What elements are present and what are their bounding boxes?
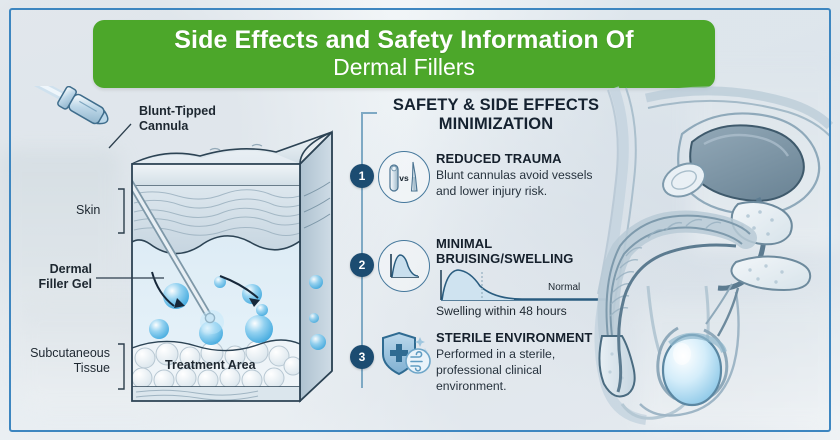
item-3-body-line2: professional clinical [436,363,542,377]
label-subq-line2: Tissue [74,361,110,375]
label-cannula-line1: Blunt-Tipped [139,104,216,118]
skin-bracket [118,189,124,233]
item-3-heading: STERILE ENVIRONMENT [436,331,592,346]
cannula-vs-needle-icon: vs [378,151,430,203]
title-line-1: Side Effects and Safety Information Of [174,27,633,54]
shield-cross-glyph [378,328,434,380]
filler-bubble [245,315,273,343]
section-title: SAFETY & SIDE EFFECTS MINIMIZATION [382,96,610,135]
step-badge-3[interactable]: 3 [350,345,374,369]
seminal-vesicle [731,256,810,290]
item-2-heading-line1: MINIMAL [436,236,492,251]
label-subcutaneous-tissue: Subcutaneous Tissue [14,346,110,375]
step-badge-2[interactable]: 2 [350,253,374,277]
skin-cross-section-illustration: Blunt-Tipped Cannula Skin Dermal Filler … [14,86,354,431]
item-1-body-line1: Blunt cannulas avoid vessels [436,168,593,182]
male-anatomy-illustration [586,86,836,432]
item-3-body-line3: environment. [436,379,506,393]
shield-cross-sterile-icon [378,328,434,385]
male-anatomy-svg [586,86,836,432]
section-title-line1: SAFETY & SIDE EFFECTS [393,96,599,114]
item-2-caption: Swelling within 48 hours [436,304,567,318]
title-line-2: Dermal Fillers [333,55,475,81]
timeline-tick [361,112,377,114]
item-1-body-line2: and lower injury risk. [436,184,547,198]
svg-text:vs: vs [399,173,409,183]
bladder [690,125,804,200]
filler-bubble [149,319,169,339]
cannula-leader-line [109,124,131,148]
label-treatment-area: Treatment Area [165,358,256,373]
label-filler-line1: Dermal [50,262,92,276]
item-2-heading-line2: BRUISING/SWELLING [436,251,573,266]
swelling-curve-svg [436,266,611,306]
title-banner: Side Effects and Safety Information Of D… [93,20,715,88]
section-title-line2: MINIMIZATION [439,115,554,133]
label-subq-line1: Subcutaneous [30,346,110,360]
filler-bubble [256,304,268,316]
item-3-body-line1: Performed in a sterile, [436,347,555,361]
label-filler-line2: Filler Gel [39,277,93,291]
label-cannula-line2: Cannula [139,119,188,133]
step-badge-1[interactable]: 1 [350,164,374,188]
subcutaneous-bracket [118,344,124,389]
skin-block-svg [14,86,354,431]
label-skin: Skin [76,203,100,218]
swelling-curve-chart-icon [378,240,430,292]
label-cannula: Blunt-Tipped Cannula [139,104,249,133]
swelling-curve-glyph [384,247,424,285]
curve-normal-label: Normal [548,282,580,293]
syringe-icon [36,86,113,131]
infographic-canvas: Side Effects and Safety Information Of D… [0,0,840,440]
safety-points-panel: SAFETY & SIDE EFFECTS MINIMIZATION 1 vs [352,96,612,416]
item-1-heading: REDUCED TRAUMA [436,152,562,167]
cannula-vs-needle-glyph: vs [383,156,425,198]
skin-side-face [300,132,332,401]
label-dermal-filler-gel: Dermal Filler Gel [14,262,92,291]
